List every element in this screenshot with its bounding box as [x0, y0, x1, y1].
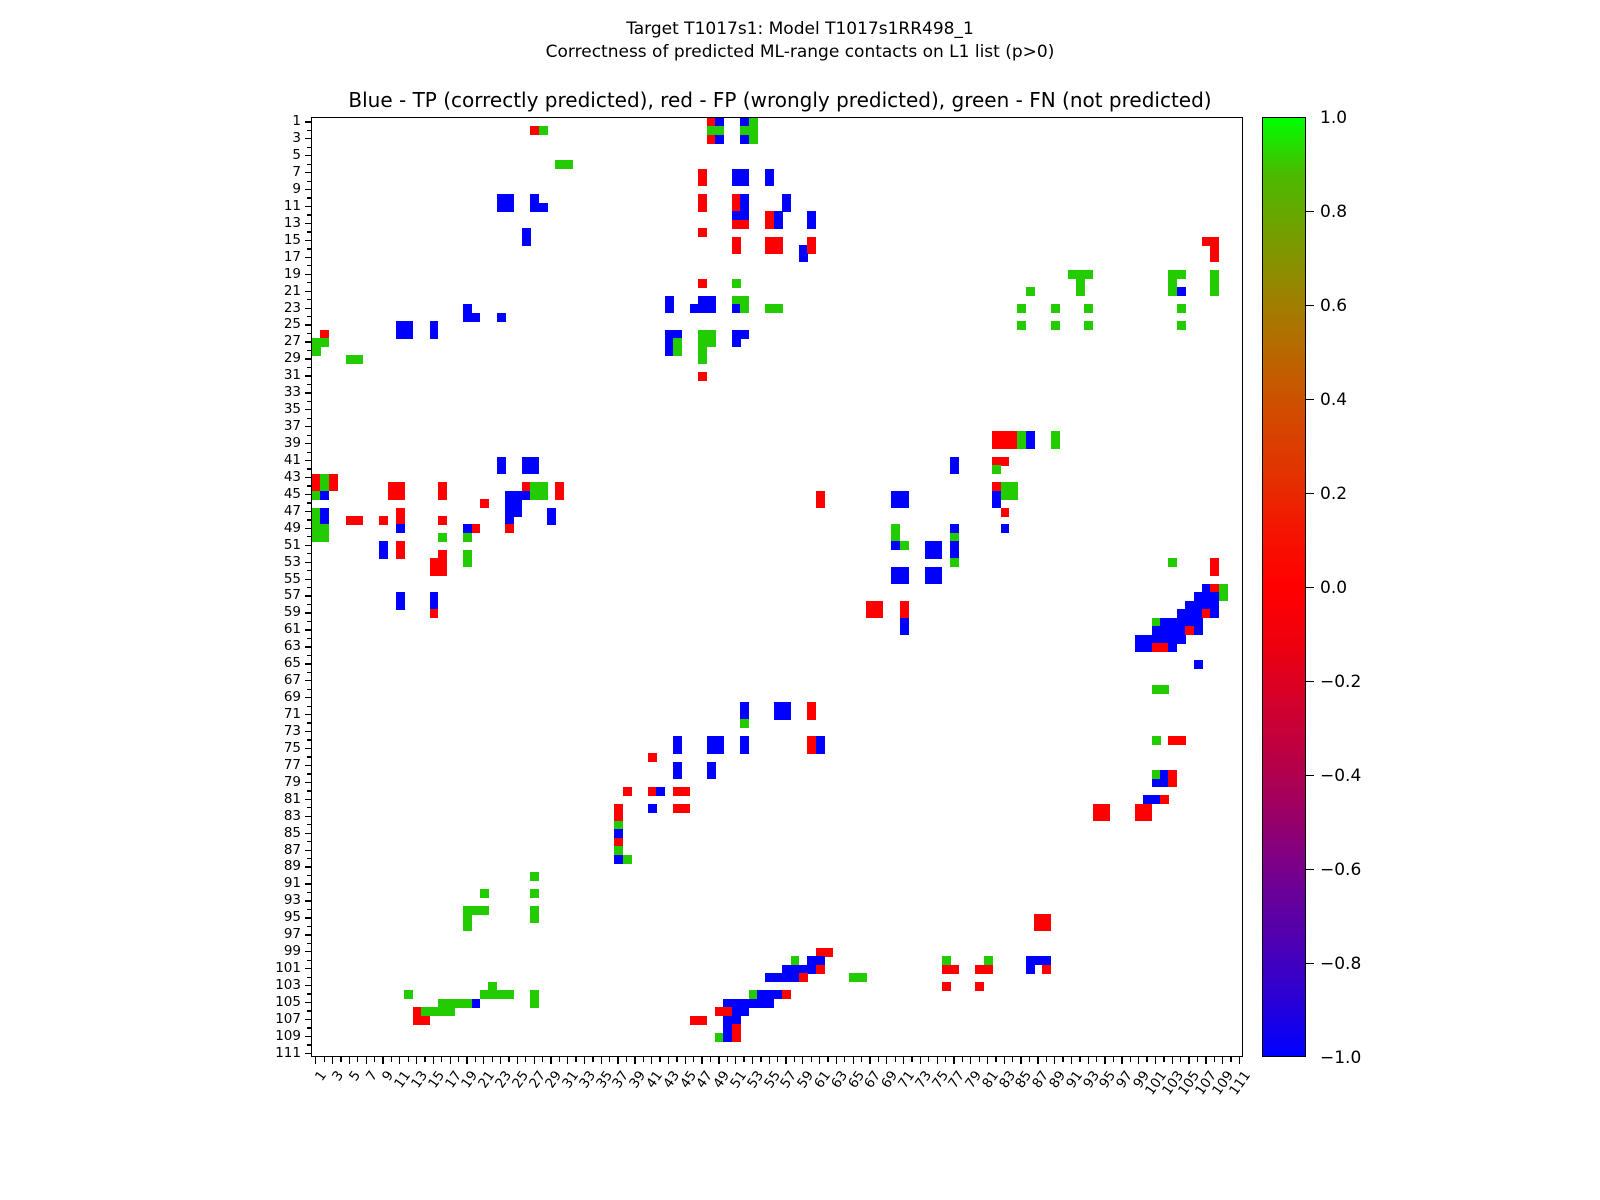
- y-tick-mark: [305, 358, 312, 359]
- y-tick-mark: [307, 197, 312, 198]
- y-tick-mark: [307, 435, 312, 436]
- contact-cell: [673, 347, 682, 356]
- contact-cell: [1009, 491, 1018, 500]
- contact-cell: [1026, 287, 1035, 296]
- colorbar-tick-label: −0.6: [1320, 860, 1361, 880]
- x-tick-mark: [995, 1057, 996, 1062]
- contact-cell: [816, 965, 825, 974]
- y-tick-mark: [307, 1044, 312, 1045]
- y-tick-mark: [305, 985, 312, 986]
- y-tick-mark: [307, 485, 312, 486]
- contact-cell: [530, 914, 539, 923]
- y-tick-label: 83: [233, 811, 301, 821]
- x-tick-mark: [475, 1057, 476, 1062]
- y-tick-mark: [307, 722, 312, 723]
- y-tick-mark: [307, 672, 312, 673]
- x-tick-mark: [802, 1057, 803, 1064]
- contact-cell: [505, 990, 514, 999]
- colorbar-tick-label: 0.0: [1320, 578, 1347, 598]
- y-tick-mark: [307, 909, 312, 910]
- contact-cell: [698, 177, 707, 186]
- contact-cell: [782, 203, 791, 212]
- contact-cell: [1194, 626, 1203, 635]
- contact-cell: [715, 135, 724, 144]
- y-tick-mark: [307, 519, 312, 520]
- contact-cell: [933, 575, 942, 584]
- contact-cell: [1026, 965, 1035, 974]
- x-tick-mark: [525, 1057, 526, 1062]
- x-tick-mark: [559, 1057, 560, 1062]
- y-tick-mark: [307, 333, 312, 334]
- x-tick-mark: [1088, 1057, 1089, 1064]
- x-tick-mark: [643, 1057, 644, 1062]
- contact-cell: [807, 220, 816, 229]
- contact-cell: [740, 330, 749, 339]
- y-tick-mark: [307, 943, 312, 944]
- y-tick-mark: [307, 570, 312, 571]
- y-tick-mark: [307, 316, 312, 317]
- y-tick-mark: [307, 689, 312, 690]
- x-tick-mark: [1020, 1057, 1021, 1064]
- title-line-2: Correctness of predicted ML-range contac…: [0, 41, 1600, 64]
- contact-cell: [430, 330, 439, 339]
- x-tick-mark: [861, 1057, 862, 1062]
- x-tick-mark: [1222, 1057, 1223, 1064]
- y-tick-mark: [307, 502, 312, 503]
- contact-cell: [698, 372, 707, 381]
- y-tick-mark: [305, 528, 312, 529]
- colorbar-tick-label: 0.6: [1320, 296, 1347, 316]
- y-tick-label: 69: [233, 692, 301, 702]
- contact-cell: [438, 533, 447, 542]
- y-tick-label: 39: [233, 438, 301, 448]
- y-tick-label: 99: [233, 946, 301, 956]
- x-tick-mark: [340, 1057, 341, 1062]
- contact-cell: [539, 126, 548, 135]
- x-tick-mark: [886, 1057, 887, 1064]
- contact-cell: [1001, 457, 1010, 466]
- x-tick-mark: [1071, 1057, 1072, 1064]
- y-tick-label: 41: [233, 455, 301, 465]
- x-tick-mark: [424, 1057, 425, 1062]
- contact-cell: [681, 804, 690, 813]
- y-tick-mark: [307, 418, 312, 419]
- contact-cell: [1168, 558, 1177, 567]
- x-tick-mark: [1155, 1057, 1156, 1064]
- y-tick-mark: [307, 181, 312, 182]
- contact-cell: [480, 499, 489, 508]
- x-tick-mark: [1121, 1057, 1122, 1064]
- contact-cell: [799, 253, 808, 262]
- contact-cell: [1051, 321, 1060, 330]
- y-tick-label: 73: [233, 726, 301, 736]
- contact-cell: [438, 516, 447, 525]
- x-tick-mark: [1239, 1057, 1240, 1064]
- x-tick-mark: [567, 1057, 568, 1064]
- contact-cell: [900, 575, 909, 584]
- colorbar-tick-mark: [1306, 305, 1314, 306]
- contact-cell: [1101, 812, 1110, 821]
- x-tick-mark: [685, 1057, 686, 1064]
- contact-cell: [539, 203, 548, 212]
- contact-cell: [698, 203, 707, 212]
- y-tick-mark: [305, 375, 312, 376]
- y-tick-mark: [307, 468, 312, 469]
- contact-cell: [707, 304, 716, 313]
- y-tick-mark: [307, 824, 312, 825]
- y-tick-mark: [305, 646, 312, 647]
- contact-cell: [1210, 287, 1219, 296]
- y-tick-mark: [307, 248, 312, 249]
- contact-cell: [740, 719, 749, 728]
- colorbar-gradient: [1262, 117, 1306, 1057]
- y-tick-mark: [307, 807, 312, 808]
- y-tick-label: 43: [233, 472, 301, 482]
- colorbar-tick-label: −0.4: [1320, 766, 1361, 786]
- colorbar[interactable]: [1262, 117, 1306, 1057]
- x-tick-mark: [1113, 1057, 1114, 1062]
- contact-cell: [1168, 643, 1177, 652]
- x-tick-mark: [626, 1057, 627, 1062]
- x-tick-mark: [634, 1057, 635, 1064]
- y-tick-label: 13: [233, 218, 301, 228]
- y-tick-label: 21: [233, 286, 301, 296]
- y-tick-mark: [305, 850, 312, 851]
- x-tick-mark: [441, 1057, 442, 1062]
- contact-cell: [698, 1016, 707, 1025]
- x-tick-mark: [391, 1057, 392, 1062]
- contact-cell: [665, 304, 674, 313]
- y-tick-mark: [305, 1019, 312, 1020]
- contact-cell: [1177, 287, 1186, 296]
- y-tick-mark: [305, 629, 312, 630]
- y-tick-mark: [305, 833, 312, 834]
- contact-cell: [1017, 304, 1026, 313]
- contact-cell: [900, 499, 909, 508]
- contact-cell: [1177, 736, 1186, 745]
- contact-cell: [463, 923, 472, 932]
- contact-cell: [320, 491, 329, 500]
- contact-cell: [975, 982, 984, 991]
- y-tick-mark: [305, 765, 312, 766]
- y-tick-mark: [305, 121, 312, 122]
- y-tick-mark: [305, 545, 312, 546]
- contact-cell: [497, 465, 506, 474]
- x-tick-mark: [727, 1057, 728, 1062]
- y-tick-mark: [305, 1053, 312, 1054]
- contact-cell: [740, 177, 749, 186]
- contact-cell: [396, 491, 405, 500]
- contact-cell: [900, 541, 909, 550]
- x-tick-mark: [693, 1057, 694, 1062]
- contact-cell: [1076, 287, 1085, 296]
- y-tick-mark: [305, 240, 312, 241]
- contact-cell: [446, 1007, 455, 1016]
- colorbar-tick-mark: [1306, 587, 1314, 588]
- y-tick-mark: [307, 164, 312, 165]
- contact-cell: [732, 279, 741, 288]
- y-tick-mark: [305, 1036, 312, 1037]
- y-tick-label: 19: [233, 269, 301, 279]
- contact-cell: [1210, 609, 1219, 618]
- x-tick-mark: [508, 1057, 509, 1062]
- contact-cell: [1177, 270, 1186, 279]
- contact-map-plot[interactable]: [311, 117, 1243, 1057]
- y-tick-mark: [307, 282, 312, 283]
- y-tick-label: 3: [233, 133, 301, 143]
- colorbar-tick-label: 0.4: [1320, 390, 1347, 410]
- y-tick-label: 7: [233, 167, 301, 177]
- contact-cell: [933, 550, 942, 559]
- contact-cell: [480, 889, 489, 898]
- x-tick-mark: [483, 1057, 484, 1064]
- y-tick-mark: [305, 341, 312, 342]
- contact-cell: [320, 533, 329, 542]
- x-tick-mark: [651, 1057, 652, 1064]
- contact-cell: [1177, 635, 1186, 644]
- x-tick-mark: [701, 1057, 702, 1064]
- contact-cell: [774, 245, 783, 254]
- contact-cell: [648, 804, 657, 813]
- x-tick-mark: [1214, 1057, 1215, 1062]
- contact-cell: [1042, 923, 1051, 932]
- y-tick-mark: [305, 155, 312, 156]
- contact-cell: [673, 745, 682, 754]
- contact-cell: [1026, 440, 1035, 449]
- x-tick-mark: [735, 1057, 736, 1064]
- contact-cell: [1001, 524, 1010, 533]
- contact-cell: [472, 313, 481, 322]
- contact-cell: [514, 508, 523, 517]
- x-tick-mark: [760, 1057, 761, 1062]
- contact-cell: [396, 550, 405, 559]
- y-tick-label: 103: [233, 980, 301, 990]
- contact-cell: [1051, 304, 1060, 313]
- contact-cell: [505, 524, 514, 533]
- x-tick-mark: [450, 1057, 451, 1064]
- colorbar-tick-label: 0.8: [1320, 202, 1347, 222]
- contact-cell: [875, 609, 884, 618]
- y-tick-mark: [307, 130, 312, 131]
- y-tick-label: 105: [233, 997, 301, 1007]
- y-tick-label: 35: [233, 404, 301, 414]
- y-tick-label: 101: [233, 963, 301, 973]
- y-tick-label: 45: [233, 489, 301, 499]
- y-tick-mark: [305, 426, 312, 427]
- y-tick-label: 9: [233, 184, 301, 194]
- x-tick-mark: [1230, 1057, 1231, 1062]
- contact-cell: [623, 787, 632, 796]
- x-tick-mark: [1062, 1057, 1063, 1062]
- contact-cell: [816, 745, 825, 754]
- x-tick-mark: [785, 1057, 786, 1064]
- x-tick-mark: [1096, 1057, 1097, 1062]
- contact-cell: [379, 516, 388, 525]
- contact-cell: [379, 550, 388, 559]
- contact-cell: [740, 745, 749, 754]
- y-tick-mark: [305, 443, 312, 444]
- x-tick-mark: [1188, 1057, 1189, 1064]
- contact-cell: [555, 491, 564, 500]
- x-tick-mark: [332, 1057, 333, 1064]
- x-tick-mark: [895, 1057, 896, 1062]
- y-tick-mark: [305, 595, 312, 596]
- y-tick-mark: [307, 401, 312, 402]
- y-tick-mark: [305, 883, 312, 884]
- contact-cell: [992, 465, 1001, 474]
- x-tick-mark: [542, 1057, 543, 1062]
- contact-cell: [656, 787, 665, 796]
- contact-cell: [430, 609, 439, 618]
- y-tick-mark: [307, 706, 312, 707]
- x-tick-mark: [374, 1057, 375, 1062]
- x-tick-mark: [1004, 1057, 1005, 1064]
- y-tick-label: 23: [233, 303, 301, 313]
- y-tick-mark: [307, 367, 312, 368]
- y-tick-mark: [307, 841, 312, 842]
- contact-cell: [715, 745, 724, 754]
- x-tick-mark: [382, 1057, 383, 1064]
- y-tick-mark: [307, 655, 312, 656]
- y-tick-mark: [305, 951, 312, 952]
- y-tick-mark: [305, 274, 312, 275]
- y-tick-mark: [307, 299, 312, 300]
- colorbar-tick-mark: [1306, 211, 1314, 212]
- contact-cell: [765, 999, 774, 1008]
- contact-cell: [732, 245, 741, 254]
- contact-cell: [1143, 812, 1152, 821]
- colorbar-tick-label: 1.0: [1320, 108, 1347, 128]
- y-tick-mark: [305, 257, 312, 258]
- contact-cell: [547, 516, 556, 525]
- contact-cell: [673, 770, 682, 779]
- contact-cell: [774, 304, 783, 313]
- y-tick-label: 95: [233, 912, 301, 922]
- contact-cell: [472, 999, 481, 1008]
- contact-map-page: Target T1017s1: Model T1017s1RR498_1 Cor…: [0, 0, 1600, 1200]
- contact-cell: [396, 524, 405, 533]
- colorbar-tick-mark: [1306, 869, 1314, 870]
- x-tick-mark: [550, 1057, 551, 1064]
- contact-cell: [1084, 270, 1093, 279]
- contact-cell: [1084, 321, 1093, 330]
- contact-cell: [1177, 304, 1186, 313]
- contact-cell: [404, 990, 413, 999]
- y-tick-mark: [307, 977, 312, 978]
- x-tick-mark: [592, 1057, 593, 1062]
- x-tick-mark: [903, 1057, 904, 1064]
- x-tick-mark: [1054, 1057, 1055, 1064]
- x-tick-mark: [1163, 1057, 1164, 1062]
- y-tick-mark: [307, 790, 312, 791]
- y-tick-label: 89: [233, 861, 301, 871]
- y-tick-mark: [305, 223, 312, 224]
- y-tick-mark: [305, 900, 312, 901]
- y-tick-label: 91: [233, 878, 301, 888]
- contact-cell: [329, 482, 338, 491]
- contact-cell: [438, 491, 447, 500]
- y-tick-mark: [305, 697, 312, 698]
- y-tick-mark: [307, 147, 312, 148]
- x-tick-mark: [1046, 1057, 1047, 1062]
- x-tick-mark: [928, 1057, 929, 1062]
- contact-cell: [1001, 508, 1010, 517]
- x-tick-mark: [324, 1057, 325, 1062]
- x-tick-mark: [945, 1057, 946, 1062]
- y-tick-mark: [307, 621, 312, 622]
- contact-cell: [698, 228, 707, 237]
- contact-cell: [698, 355, 707, 364]
- y-tick-label: 17: [233, 252, 301, 262]
- y-tick-mark: [307, 993, 312, 994]
- contact-cell: [312, 347, 321, 356]
- y-tick-label: 33: [233, 387, 301, 397]
- y-tick-label: 93: [233, 895, 301, 905]
- y-tick-label: 65: [233, 658, 301, 668]
- y-tick-label: 61: [233, 624, 301, 634]
- x-tick-mark: [718, 1057, 719, 1064]
- y-tick-label: 109: [233, 1031, 301, 1041]
- y-tick-label: 107: [233, 1014, 301, 1024]
- x-tick-mark: [911, 1057, 912, 1062]
- contact-cell: [354, 355, 363, 364]
- y-tick-mark: [305, 866, 312, 867]
- x-tick-mark: [357, 1057, 358, 1062]
- y-tick-mark: [307, 536, 312, 537]
- contact-cell: [472, 524, 481, 533]
- x-tick-mark: [777, 1057, 778, 1062]
- y-tick-mark: [305, 612, 312, 613]
- contact-cell: [858, 973, 867, 982]
- y-tick-mark: [307, 875, 312, 876]
- y-tick-mark: [305, 206, 312, 207]
- contact-cell: [698, 279, 707, 288]
- x-tick-mark: [1180, 1057, 1181, 1062]
- y-tick-label: 97: [233, 929, 301, 939]
- x-tick-mark: [819, 1057, 820, 1064]
- contact-cell: [1210, 253, 1219, 262]
- colorbar-tick-label: 0.2: [1320, 484, 1347, 504]
- figure-title: Target T1017s1: Model T1017s1RR498_1 Cor…: [0, 18, 1600, 64]
- y-tick-mark: [307, 1010, 312, 1011]
- contact-cell: [522, 237, 531, 246]
- contact-cell: [950, 965, 959, 974]
- y-tick-label: 49: [233, 523, 301, 533]
- y-tick-label: 5: [233, 150, 301, 160]
- contact-cell: [824, 948, 833, 957]
- contact-cell: [807, 245, 816, 254]
- colorbar-tick-mark: [1306, 681, 1314, 682]
- contact-cell: [799, 973, 808, 982]
- x-tick-mark: [1104, 1057, 1105, 1064]
- y-tick-mark: [305, 680, 312, 681]
- contact-cell: [396, 601, 405, 610]
- x-tick-mark: [844, 1057, 845, 1062]
- colorbar-tick-label: −0.8: [1320, 954, 1361, 974]
- x-tick-mark: [668, 1057, 669, 1064]
- y-tick-mark: [305, 494, 312, 495]
- y-tick-mark: [307, 604, 312, 605]
- contact-cell: [1017, 321, 1026, 330]
- contact-cell: [681, 787, 690, 796]
- x-tick-mark: [869, 1057, 870, 1064]
- y-tick-mark: [307, 926, 312, 927]
- contact-cell: [740, 304, 749, 313]
- contact-cell: [740, 1007, 749, 1016]
- x-tick-mark: [937, 1057, 938, 1064]
- y-tick-label: 71: [233, 709, 301, 719]
- y-tick-mark: [305, 1002, 312, 1003]
